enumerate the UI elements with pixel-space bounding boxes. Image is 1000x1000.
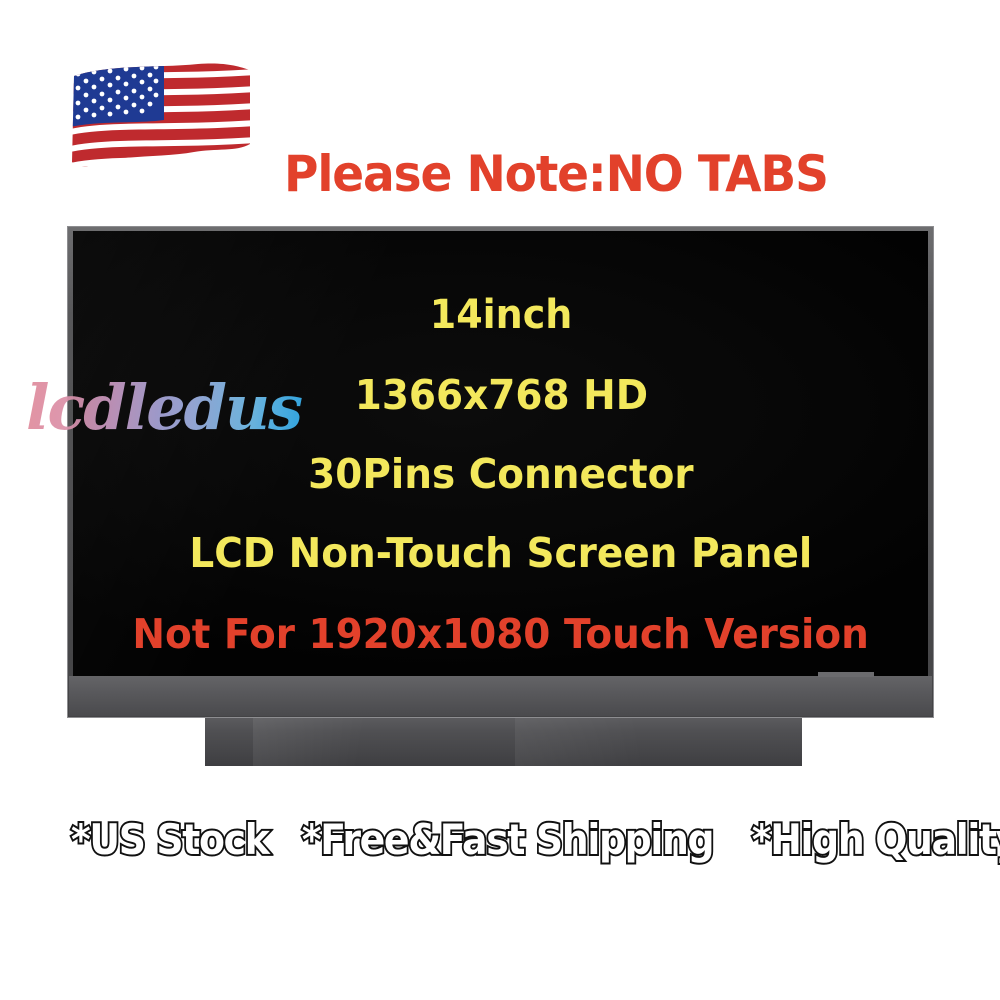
feature-high-quality: *High Quality [751,819,1000,861]
panel-connector-notch [818,672,874,677]
product-listing-image: Please Note:NO TABS lcdledus 14inch 1366… [0,0,1000,1000]
feature-free-fast-shipping: *Free&Fast Shipping [302,819,713,861]
panel-bottom-chassis [69,676,932,716]
lcd-panel [67,226,934,718]
panel-lower-bracket [205,718,802,766]
feature-us-stock: *US Stock [71,819,269,861]
page-headline: Please Note:NO TABS [284,143,867,205]
panel-screen-area [73,231,928,676]
feature-row: *US Stock *Free&Fast Shipping *High Qual… [60,800,990,880]
us-flag-icon [66,62,256,174]
